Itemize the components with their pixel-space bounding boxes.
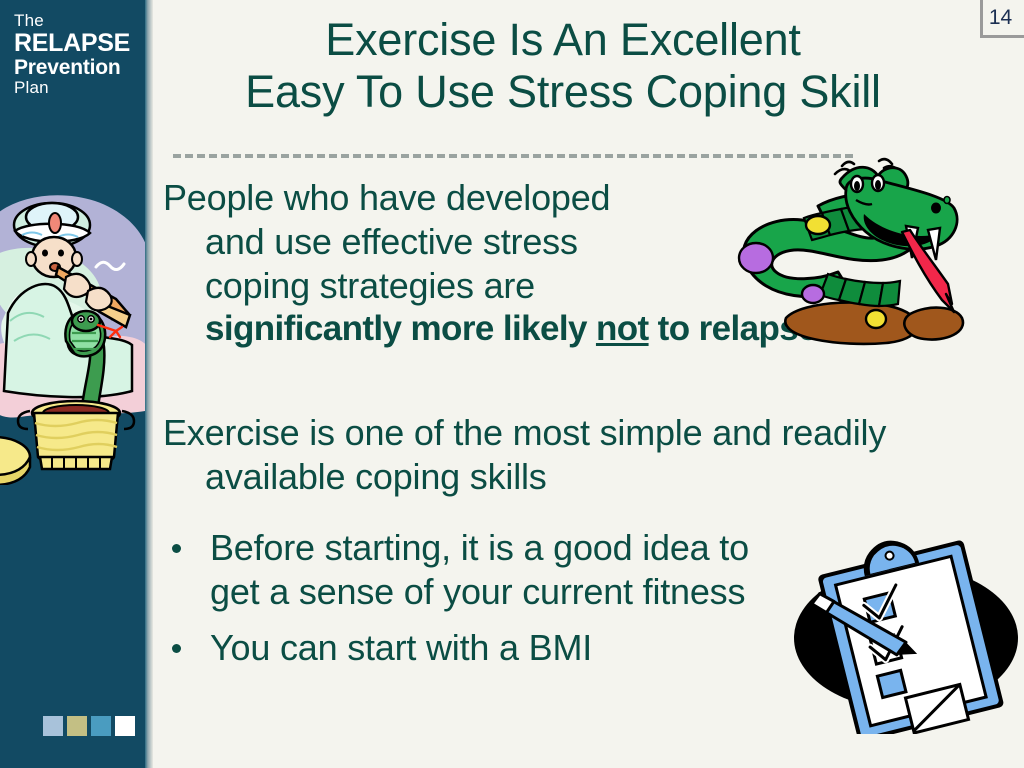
logo-line-plan: Plan [14,79,139,97]
slide-title-line-1: Exercise Is An Excellent [153,14,973,66]
swatch-khaki [67,716,87,736]
logo-line-relapse: RELAPSE [14,30,139,57]
bullet-dot-icon [172,644,181,653]
bullet-dot-icon [172,544,181,553]
sidebar: The RELAPSE Prevention Plan [0,0,145,768]
slide-title: Exercise Is An Excellent Easy To Use Str… [153,14,973,118]
p1-line-1: People who have developed [163,176,723,220]
p2-line-1: Exercise is one of the most simple and r… [163,411,953,455]
snake-charmer-illustration [0,195,145,485]
logo-line-the: The [14,12,139,30]
sidebar-edge-shadow [145,0,153,768]
bullet-1-line-2: get a sense of your current fitness [210,570,866,614]
paragraph-exercise-simple: Exercise is one of the most simple and r… [163,411,953,499]
paragraph-stress-coping: People who have developed and use effect… [163,176,723,350]
p1-emphasis-underlined: not [596,309,649,348]
sidebar-swatch-row [43,716,135,736]
slide-title-line-2: Easy To Use Stress Coping Skill [153,66,973,118]
p1-line-2: and use effective stress [163,220,723,264]
brand-logo: The RELAPSE Prevention Plan [14,12,139,97]
p2-line-2: available coping skills [163,455,953,499]
bullet-1-line-1: Before starting, it is a good idea to [210,526,866,570]
swatch-white [115,716,135,736]
page-number-text: 14 [989,6,1012,30]
snake-illustration [706,152,986,348]
bullet-item-fitness: Before starting, it is a good idea to ge… [166,526,866,614]
swatch-light-blue [43,716,63,736]
logo-line-prevention: Prevention [14,57,139,79]
bullet-item-bmi: You can start with a BMI [166,626,866,670]
clipboard-illustration [786,534,1024,734]
p1-emphasis-line: significantly more likely not to relapse [163,308,723,351]
p1-line-3: coping strategies are [163,264,723,308]
bullet-list: Before starting, it is a good idea to ge… [166,526,866,682]
p1-emphasis-pre: significantly more likely [205,309,596,348]
slide-root: The RELAPSE Prevention Plan [0,0,1024,768]
swatch-blue [91,716,111,736]
page-number-badge: 14 [980,0,1024,38]
bullet-2-line-1: You can start with a BMI [210,626,866,670]
